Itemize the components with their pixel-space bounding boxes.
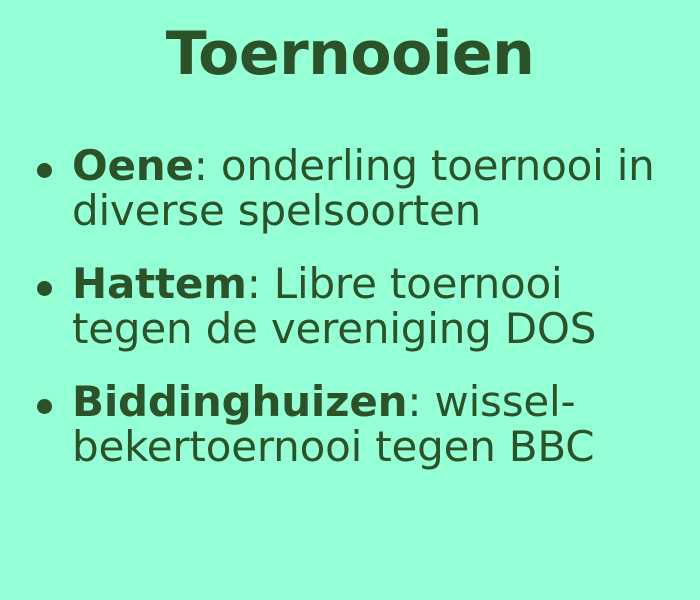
bullet-name: Oene [72, 141, 194, 190]
bullet-dot-icon [37, 281, 52, 296]
list-item: Hattem: Libre toernooi tegen de verenigi… [0, 262, 700, 351]
slide-canvas: Toernooien Oene: onderling toernooi in d… [0, 0, 700, 600]
bullet-separator: : [194, 141, 208, 190]
bullet-separator: : [247, 259, 261, 308]
bullet-separator: : [407, 377, 421, 426]
bullet-dot-icon [37, 163, 52, 178]
bullet-list: Oene: onderling toernooi in diverse spel… [0, 144, 700, 469]
bullet-dot-icon [37, 399, 52, 414]
list-item: Biddinghuizen: wissel-bekertoernooi tege… [0, 380, 700, 469]
bullet-name: Biddinghuizen [72, 377, 407, 426]
bullet-name: Hattem [72, 259, 247, 308]
page-title: Toernooien [0, 22, 700, 87]
list-item: Oene: onderling toernooi in diverse spel… [0, 144, 700, 233]
